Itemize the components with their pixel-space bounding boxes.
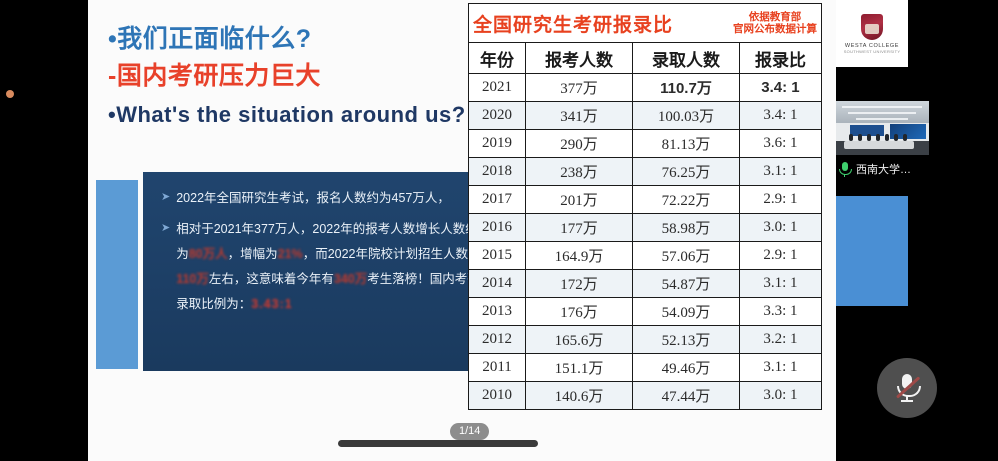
bullet2-mid-2: ，而2022年院校计划招生人数 (303, 247, 468, 261)
cell-admitted: 52.13万 (633, 326, 740, 354)
bullet-item-2: ➤ 相对于2021年377万人，2022年的报考人数增长人数约为80万人，增幅为… (161, 217, 487, 317)
cell-admitted: 57.06万 (633, 242, 740, 270)
arrow-bullet-icon: ➤ (161, 217, 170, 239)
bullet-item-1: ➤ 2022年全国研究生考试，报名人数约为457万人， (161, 186, 487, 211)
cell-ratio: 3.0: 1 (739, 214, 821, 242)
cell-year: 2018 (469, 158, 526, 186)
bullet-text-2: 相对于2021年377万人，2022年的报考人数增长人数约为80万人，增幅为21… (176, 217, 487, 317)
horizontal-scrollbar[interactable] (338, 440, 538, 447)
cell-year: 2014 (469, 270, 526, 298)
video-person (894, 134, 898, 141)
cell-ratio: 3.1: 1 (739, 354, 821, 382)
cell-ratio: 3.4: 1 (739, 74, 821, 102)
cell-applicants: 177万 (526, 214, 633, 242)
video-person (876, 134, 880, 141)
cell-applicants: 377万 (526, 74, 633, 102)
cell-year: 2016 (469, 214, 526, 242)
participant-label: 西南大学… (839, 161, 911, 177)
participant-video-thumbnail[interactable] (836, 101, 929, 155)
cell-applicants: 165.6万 (526, 326, 633, 354)
column-header-applicants: 报考人数 (526, 43, 633, 74)
table-row: 2018238万76.25万3.1: 1 (469, 158, 822, 186)
college-logo: WESTA COLLEGE SOUTHWEST UNIVERSITY (836, 0, 908, 67)
cell-ratio: 3.0: 1 (739, 382, 821, 410)
cell-admitted: 54.87万 (633, 270, 740, 298)
ratio-table: 全国研究生考研报录比 依据教育部 官网公布数据计算 年份 报考人数 录取人数 (468, 3, 822, 410)
cell-ratio: 3.2: 1 (739, 326, 821, 354)
video-person (867, 134, 871, 141)
cell-ratio: 3.1: 1 (739, 270, 821, 298)
page-indicator: 1/14 (450, 423, 489, 440)
screen-share-view: •我们正面临什么? -国内考研压力巨大 •What's the situatio… (0, 0, 998, 461)
table-title-cell: 全国研究生考研报录比 依据教育部 官网公布数据计算 (469, 4, 822, 43)
video-person (903, 134, 907, 141)
cell-year: 2012 (469, 326, 526, 354)
video-person (849, 134, 853, 141)
video-person (885, 134, 889, 141)
cell-ratio: 3.4: 1 (739, 102, 821, 130)
microphone-muted-icon (897, 374, 917, 402)
column-header-admitted: 录取人数 (633, 43, 740, 74)
cursor-dot (6, 90, 14, 98)
mute-toggle-button[interactable] (877, 358, 937, 418)
video-light-strip (842, 106, 922, 108)
table-row: 2010140.6万47.44万3.0: 1 (469, 382, 822, 410)
bullet2-blurred-value-4: 340万 (334, 272, 367, 286)
table-title-sub-line1: 依据教育部 (749, 11, 802, 23)
microphone-icon (839, 162, 850, 177)
table-row: 2021377万110.7万3.4: 1 (469, 74, 822, 102)
table-row: 2020341万100.03万3.4: 1 (469, 102, 822, 130)
cell-admitted: 76.25万 (633, 158, 740, 186)
video-light-strip (856, 118, 908, 120)
cell-applicants: 290万 (526, 130, 633, 158)
cell-ratio: 3.6: 1 (739, 130, 821, 158)
cell-year: 2020 (469, 102, 526, 130)
bullet2-blurred-value-2: 21% (278, 247, 303, 261)
table-body: 2021377万110.7万3.4: 12020341万100.03万3.4: … (469, 74, 822, 410)
bullet-list: ➤ 2022年全国研究生考试，报名人数约为457万人， ➤ 相对于2021年37… (161, 186, 487, 323)
cell-applicants: 140.6万 (526, 382, 633, 410)
cell-year: 2021 (469, 74, 526, 102)
cell-admitted: 54.09万 (633, 298, 740, 326)
cell-ratio: 2.9: 1 (739, 186, 821, 214)
arrow-bullet-icon: ➤ (161, 186, 170, 208)
slide-text-box: ➤ 2022年全国研究生考试，报名人数约为457万人， ➤ 相对于2021年37… (143, 172, 493, 371)
cell-admitted: 72.22万 (633, 186, 740, 214)
bullet2-mid-1: ，增幅为 (228, 247, 278, 261)
table-header-row: 年份 报考人数 录取人数 报录比 (469, 43, 822, 74)
table-title-sub-line2: 官网公布数据计算 (733, 23, 817, 35)
shared-slide: •我们正面临什么? -国内考研压力巨大 •What's the situatio… (88, 0, 910, 461)
decorative-accent-bar (96, 180, 138, 369)
cell-admitted: 100.03万 (633, 102, 740, 130)
cell-admitted: 81.13万 (633, 130, 740, 158)
cell-applicants: 164.9万 (526, 242, 633, 270)
cell-year: 2015 (469, 242, 526, 270)
cell-admitted: 47.44万 (633, 382, 740, 410)
table-row: 2011151.1万49.46万3.1: 1 (469, 354, 822, 382)
bullet2-blurred-value-3: 110万 (176, 272, 209, 286)
cell-applicants: 151.1万 (526, 354, 633, 382)
cell-applicants: 176万 (526, 298, 633, 326)
cell-applicants: 201万 (526, 186, 633, 214)
video-conference-table (844, 141, 914, 149)
video-light-strip (848, 112, 916, 114)
table-row: 2012165.6万52.13万3.2: 1 (469, 326, 822, 354)
cell-applicants: 238万 (526, 158, 633, 186)
left-letterbox (0, 0, 88, 461)
cell-admitted: 58.98万 (633, 214, 740, 242)
table-row: 2017201万72.22万2.9: 1 (469, 186, 822, 214)
bullet2-mid-3: 左右，这意味着今年有 (209, 272, 334, 286)
cell-ratio: 3.1: 1 (739, 158, 821, 186)
table-title-main: 全国研究生考研报录比 (473, 10, 673, 37)
cell-applicants: 341万 (526, 102, 633, 130)
crest-icon (861, 14, 883, 40)
participant-name: 西南大学… (856, 161, 911, 177)
cell-admitted: 49.46万 (633, 354, 740, 382)
table-row: 2016177万58.98万3.0: 1 (469, 214, 822, 242)
cell-ratio: 3.3: 1 (739, 298, 821, 326)
cell-year: 2017 (469, 186, 526, 214)
cell-year: 2019 (469, 130, 526, 158)
next-participant-tile[interactable] (836, 196, 908, 306)
video-person (858, 134, 862, 141)
cell-applicants: 172万 (526, 270, 633, 298)
table-row: 2015164.9万57.06万2.9: 1 (469, 242, 822, 270)
table-row: 2013176万54.09万3.3: 1 (469, 298, 822, 326)
cell-year: 2013 (469, 298, 526, 326)
table-row: 2014172万54.87万3.1: 1 (469, 270, 822, 298)
column-header-year: 年份 (469, 43, 526, 74)
bullet-text-1: 2022年全国研究生考试，报名人数约为457万人， (176, 186, 487, 211)
table-title-row: 全国研究生考研报录比 依据教育部 官网公布数据计算 (469, 4, 822, 43)
bullet2-ratio-value: 3.43:1 (251, 297, 292, 311)
bullet2-blurred-value-1: 80万人 (189, 247, 228, 261)
table-title-sub: 依据教育部 官网公布数据计算 (733, 11, 817, 35)
cell-admitted: 110.7万 (633, 74, 740, 102)
cell-year: 2010 (469, 382, 526, 410)
ratio-table-container: 全国研究生考研报录比 依据教育部 官网公布数据计算 年份 报考人数 录取人数 (468, 3, 822, 410)
cell-ratio: 2.9: 1 (739, 242, 821, 270)
college-logo-line2: SOUTHWEST UNIVERSITY (844, 49, 901, 54)
table-row: 2019290万81.13万3.6: 1 (469, 130, 822, 158)
cell-year: 2011 (469, 354, 526, 382)
column-header-ratio: 报录比 (739, 43, 821, 74)
